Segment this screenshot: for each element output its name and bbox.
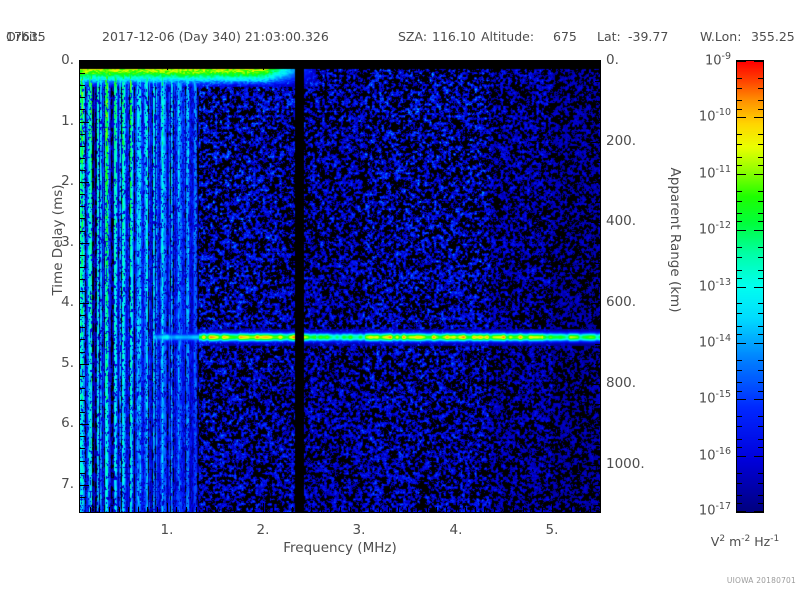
axis-tick-label: 600. [606, 294, 658, 310]
axis-tick [80, 97, 85, 98]
colorbar-minor-tick [737, 326, 742, 327]
colorbar-tick [737, 117, 746, 118]
colorbar-minor-tick [758, 165, 763, 166]
axis-tick [595, 323, 600, 324]
axis-tick [595, 404, 600, 405]
colorbar-tick [754, 61, 763, 62]
axis-tick [523, 507, 524, 512]
axis-tick [595, 202, 600, 203]
axis-tick [591, 142, 600, 143]
axis-tick [80, 303, 89, 304]
colorbar-minor-tick [737, 426, 742, 427]
latitude-label: Lat: [597, 29, 621, 44]
axis-tick [456, 503, 457, 512]
axis-tick [595, 243, 600, 244]
axis-tick [388, 61, 389, 66]
axis-tick [436, 507, 437, 512]
altitude-label: Altitude: [481, 29, 534, 44]
colorbar-minor-tick [737, 257, 742, 258]
axis-tick [80, 327, 85, 328]
colorbar-minor-tick [758, 213, 763, 214]
colorbar-tick-label: 10-11 [671, 164, 731, 181]
axis-tick [80, 448, 85, 449]
axis-tick [595, 444, 600, 445]
axis-tick [591, 303, 600, 304]
axis-tick [253, 507, 254, 512]
axis-tick [147, 507, 148, 512]
axis-tick [90, 507, 91, 512]
axis-tick [340, 507, 341, 512]
axis-tick [244, 61, 245, 66]
axis-tick [80, 412, 85, 413]
axis-tick [80, 339, 85, 340]
axis-tick [138, 61, 139, 66]
axis-tick [80, 436, 85, 437]
axis-tick [590, 61, 591, 66]
axis-tick [591, 384, 600, 385]
colorbar-minor-tick [737, 473, 742, 474]
axis-tick [533, 61, 534, 66]
axis-tick [523, 61, 524, 66]
axis-tick [595, 162, 600, 163]
colorbar-unit-v-exp: 2 [719, 534, 725, 544]
axis-tick [80, 279, 85, 280]
axis-tick [446, 507, 447, 512]
axis-tick [273, 507, 274, 512]
axis-tick [253, 61, 254, 66]
colorbar-minor-tick [758, 439, 763, 440]
axis-tick [427, 507, 428, 512]
x-axis-label: Frequency (MHz) [230, 540, 450, 556]
colorbar-minor-tick [737, 165, 742, 166]
colorbar-minor-tick [737, 213, 742, 214]
axis-tick [494, 61, 495, 66]
colorbar-minor-tick [737, 503, 742, 504]
axis-tick [350, 61, 351, 66]
axis-tick [80, 182, 89, 183]
axis-tick [80, 85, 85, 86]
axis-tick [561, 61, 562, 66]
colorbar-minor-tick [758, 313, 763, 314]
colorbar-unit-hz: Hz [754, 534, 770, 549]
axis-tick [80, 352, 85, 353]
colorbar-minor-tick [758, 221, 763, 222]
colorbar-tick-label: 10-14 [671, 333, 731, 350]
colorbar-minor-tick [758, 473, 763, 474]
axis-tick [80, 218, 85, 219]
axis-tick [80, 206, 85, 207]
axis-tick [600, 507, 601, 512]
axis-tick [398, 61, 399, 66]
colorbar-minor-tick [737, 144, 742, 145]
axis-tick-label: 0. [34, 52, 74, 68]
axis-tick-label: 5. [34, 355, 74, 371]
axis-tick [205, 507, 206, 512]
axis-tick [224, 61, 225, 66]
colorbar-minor-tick [758, 144, 763, 145]
axis-tick-label: 0. [606, 52, 658, 68]
axis-tick [167, 503, 168, 512]
axis-tick [446, 61, 447, 66]
axis-tick [80, 267, 85, 268]
colorbar-minor-tick [737, 109, 742, 110]
axis-tick [595, 182, 600, 183]
axis-tick [513, 61, 514, 66]
colorbar-minor-tick [758, 157, 763, 158]
axis-tick [417, 507, 418, 512]
colorbar-tick [754, 456, 763, 457]
axis-tick [80, 122, 89, 123]
axis-tick [552, 503, 553, 512]
y-axis-left-label: Time Delay (ms) [50, 160, 66, 320]
axis-tick [80, 291, 85, 292]
axis-tick [542, 61, 543, 66]
axis-tick [465, 507, 466, 512]
axis-tick-label: 6. [34, 415, 74, 431]
colorbar-minor-tick [737, 191, 742, 192]
axis-tick-label: 2. [241, 522, 285, 538]
colorbar-tick-label: 10-16 [671, 446, 731, 463]
axis-tick [504, 61, 505, 66]
west-longitude-value: 355.25 [751, 29, 795, 44]
axis-tick [99, 61, 100, 66]
latitude-value: -39.77 [628, 29, 668, 44]
axis-tick [436, 61, 437, 66]
colorbar-tick [754, 230, 763, 231]
colorbar-tick [754, 343, 763, 344]
colorbar-minor-tick [737, 157, 742, 158]
colorbar-tick [737, 399, 746, 400]
colorbar-minor-tick [758, 426, 763, 427]
axis-tick [80, 485, 89, 486]
colorbar-tick-label: 10-10 [671, 107, 731, 124]
colorbar-minor-tick [737, 278, 742, 279]
axis-tick [552, 61, 553, 70]
colorbar-minor-tick [737, 360, 742, 361]
axis-tick-label: 5. [530, 522, 574, 538]
colorbar-minor-tick [737, 88, 742, 89]
colorbar-minor-tick [737, 134, 742, 135]
axis-tick [571, 61, 572, 66]
colorbar-tick [737, 287, 746, 288]
colorbar-minor-tick [737, 303, 742, 304]
axis-tick [494, 507, 495, 512]
axis-tick [581, 507, 582, 512]
axis-tick [119, 507, 120, 512]
colorbar-minor-tick [737, 201, 742, 202]
west-longitude-label: W.Lon: [700, 29, 741, 44]
orbit-value: 17635 [6, 29, 46, 44]
axis-tick [244, 507, 245, 512]
axis-tick-label: 200. [606, 133, 658, 149]
axis-tick [379, 507, 380, 512]
axis-tick [80, 61, 89, 62]
colorbar-minor-tick [758, 416, 763, 417]
colorbar-minor-tick [758, 278, 763, 279]
axis-tick [157, 507, 158, 512]
sza-label: SZA: [398, 29, 427, 44]
axis-tick [359, 503, 360, 512]
axis-tick [595, 122, 600, 123]
axis-tick [215, 61, 216, 66]
axis-tick [186, 61, 187, 66]
colorbar-minor-tick [758, 100, 763, 101]
axis-tick [109, 61, 110, 66]
axis-tick [595, 505, 600, 506]
axis-tick [456, 61, 457, 70]
colorbar-tick [737, 456, 746, 457]
axis-tick [571, 507, 572, 512]
axis-tick [321, 507, 322, 512]
axis-tick [591, 222, 600, 223]
colorbar-minor-tick [758, 270, 763, 271]
colorbar-minor-tick [758, 88, 763, 89]
axis-tick [359, 61, 360, 70]
colorbar-minor-tick [737, 78, 742, 79]
axis-tick [330, 507, 331, 512]
colorbar-tick-label: 10-17 [671, 501, 731, 518]
axis-tick [542, 507, 543, 512]
colorbar-minor-tick [758, 303, 763, 304]
axis-tick [80, 231, 85, 232]
colorbar-minor-tick [737, 495, 742, 496]
colorbar-minor-tick [758, 109, 763, 110]
axis-tick [234, 61, 235, 66]
axis-tick [301, 507, 302, 512]
axis-tick [407, 61, 408, 66]
colorbar-minor-tick [758, 334, 763, 335]
axis-tick [595, 81, 600, 82]
axis-tick [301, 61, 302, 66]
axis-tick [167, 61, 168, 70]
axis-tick [224, 507, 225, 512]
sza-value: 116.10 [432, 29, 476, 44]
colorbar-minor-tick [737, 439, 742, 440]
colorbar-unit-hz-exp: -1 [770, 534, 779, 544]
colorbar-minor-tick [758, 483, 763, 484]
radargram-heatmap [80, 61, 600, 512]
axis-tick [311, 61, 312, 66]
axis-tick-label: 1000. [606, 456, 658, 472]
axis-tick [595, 485, 600, 486]
colorbar-minor-tick [758, 201, 763, 202]
radargram-plot-area [80, 61, 600, 512]
colorbar-minor-tick [758, 370, 763, 371]
axis-tick [388, 507, 389, 512]
axis-tick [475, 507, 476, 512]
axis-tick [80, 461, 85, 462]
axis-tick [80, 400, 85, 401]
colorbar-tick-label: 10-15 [671, 389, 731, 406]
colorbar-minor-tick [737, 270, 742, 271]
axis-tick [533, 507, 534, 512]
axis-tick [80, 497, 85, 498]
axis-tick [561, 507, 562, 512]
colorbar-minor-tick [737, 447, 742, 448]
colorbar-minor-tick [737, 370, 742, 371]
axis-tick [475, 61, 476, 66]
axis-tick [369, 507, 370, 512]
axis-tick [321, 61, 322, 66]
axis-tick [595, 283, 600, 284]
axis-tick [80, 315, 85, 316]
colorbar-tick [737, 343, 746, 344]
axis-tick [369, 61, 370, 66]
axis-tick [595, 344, 600, 345]
axis-tick [80, 109, 85, 110]
colorbar-minor-tick [737, 382, 742, 383]
axis-tick [595, 424, 600, 425]
axis-tick [128, 507, 129, 512]
axis-tick [80, 473, 85, 474]
axis-tick-label: 400. [606, 213, 658, 229]
axis-tick [176, 507, 177, 512]
axis-tick [379, 61, 380, 66]
axis-tick [215, 507, 216, 512]
colorbar-minor-tick [758, 326, 763, 327]
axis-tick [282, 507, 283, 512]
axis-tick-label: 1. [34, 113, 74, 129]
axis-tick [128, 61, 129, 66]
colorbar-minor-tick [758, 391, 763, 392]
colorbar-minor-tick [737, 416, 742, 417]
axis-tick [80, 364, 89, 365]
axis-tick [80, 388, 85, 389]
axis-tick [80, 376, 85, 377]
axis-tick [196, 61, 197, 66]
colorbar-unit-m-exp: -2 [741, 534, 750, 544]
axis-tick [90, 61, 91, 66]
axis-tick [80, 194, 85, 195]
axis-tick [176, 61, 177, 66]
axis-tick [196, 507, 197, 512]
colorbar-tick [754, 399, 763, 400]
axis-tick [581, 61, 582, 66]
axis-tick [109, 507, 110, 512]
colorbar-minor-tick [758, 191, 763, 192]
axis-tick [263, 61, 264, 70]
axis-tick [186, 507, 187, 512]
axis-tick [157, 61, 158, 66]
axis-tick [407, 507, 408, 512]
colorbar-minor-tick [758, 503, 763, 504]
axis-tick [80, 134, 85, 135]
axis-tick [427, 61, 428, 66]
axis-tick [484, 61, 485, 66]
axis-tick [282, 61, 283, 66]
axis-tick-label: 3. [337, 522, 381, 538]
axis-tick [465, 61, 466, 66]
colorbar-unit-m: m [729, 534, 741, 549]
axis-tick-label: 4. [434, 522, 478, 538]
colorbar-minor-tick [758, 78, 763, 79]
colorbar-unit-label: V2 m-2 Hz-1 [690, 534, 800, 549]
axis-tick [595, 263, 600, 264]
colorbar-minor-tick [758, 247, 763, 248]
axis-tick [80, 73, 85, 74]
axis-tick [80, 146, 85, 147]
axis-tick [234, 507, 235, 512]
colorbar-tick [754, 511, 763, 512]
axis-tick [138, 507, 139, 512]
colorbar-minor-tick [758, 360, 763, 361]
colorbar-minor-tick [737, 391, 742, 392]
datetime-value: 2017-12-06 (Day 340) 21:03:00.326 [102, 29, 329, 44]
colorbar-tick-label: 10-9 [671, 51, 731, 68]
axis-tick [600, 61, 601, 66]
axis-tick [147, 61, 148, 66]
colorbar-tick [754, 117, 763, 118]
altitude-value: 675 [553, 29, 577, 44]
axis-tick [263, 503, 264, 512]
axis-tick [591, 465, 600, 466]
axis-tick-label: 1. [145, 522, 189, 538]
axis-tick [595, 101, 600, 102]
axis-tick [590, 507, 591, 512]
axis-tick-label: 7. [34, 476, 74, 492]
axis-tick [398, 507, 399, 512]
colorbar-minor-tick [758, 382, 763, 383]
axis-tick [340, 61, 341, 66]
axis-tick [350, 507, 351, 512]
colorbar-minor-tick [737, 221, 742, 222]
colorbar-tick [737, 511, 746, 512]
colorbar-minor-tick [737, 100, 742, 101]
axis-tick [80, 243, 89, 244]
axis-tick [99, 507, 100, 512]
axis-tick [513, 507, 514, 512]
colorbar-minor-tick [737, 247, 742, 248]
axis-tick [205, 61, 206, 66]
header-info-bar: Orbit:17635 2017-12-06 (Day 340) 21:03:0… [0, 29, 800, 49]
colorbar-minor-tick [737, 313, 742, 314]
axis-tick [292, 507, 293, 512]
axis-tick [484, 507, 485, 512]
axis-tick [80, 170, 85, 171]
colorbar-tick-label: 10-13 [671, 277, 731, 294]
axis-tick [273, 61, 274, 66]
colorbar-minor-tick [758, 134, 763, 135]
axis-tick [292, 61, 293, 66]
colorbar-tick [754, 174, 763, 175]
colorbar-minor-tick [758, 447, 763, 448]
colorbar-minor-tick [737, 483, 742, 484]
colorbar-tick-label: 10-12 [671, 220, 731, 237]
axis-tick [595, 364, 600, 365]
credit-watermark: UIOWA 20180701 [700, 576, 796, 585]
axis-tick [80, 158, 85, 159]
axis-tick [504, 507, 505, 512]
axis-tick [119, 61, 120, 66]
colorbar-minor-tick [758, 495, 763, 496]
colorbar-minor-tick [758, 257, 763, 258]
colorbar-tick [737, 174, 746, 175]
colorbar-tick [737, 230, 746, 231]
axis-tick [330, 61, 331, 66]
colorbar-tick [737, 61, 746, 62]
colorbar-minor-tick [737, 334, 742, 335]
axis-tick [591, 61, 600, 62]
axis-tick [80, 255, 85, 256]
axis-tick [80, 424, 89, 425]
axis-tick-label: 800. [606, 375, 658, 391]
colorbar-tick [754, 287, 763, 288]
axis-tick [417, 61, 418, 66]
axis-tick [311, 507, 312, 512]
